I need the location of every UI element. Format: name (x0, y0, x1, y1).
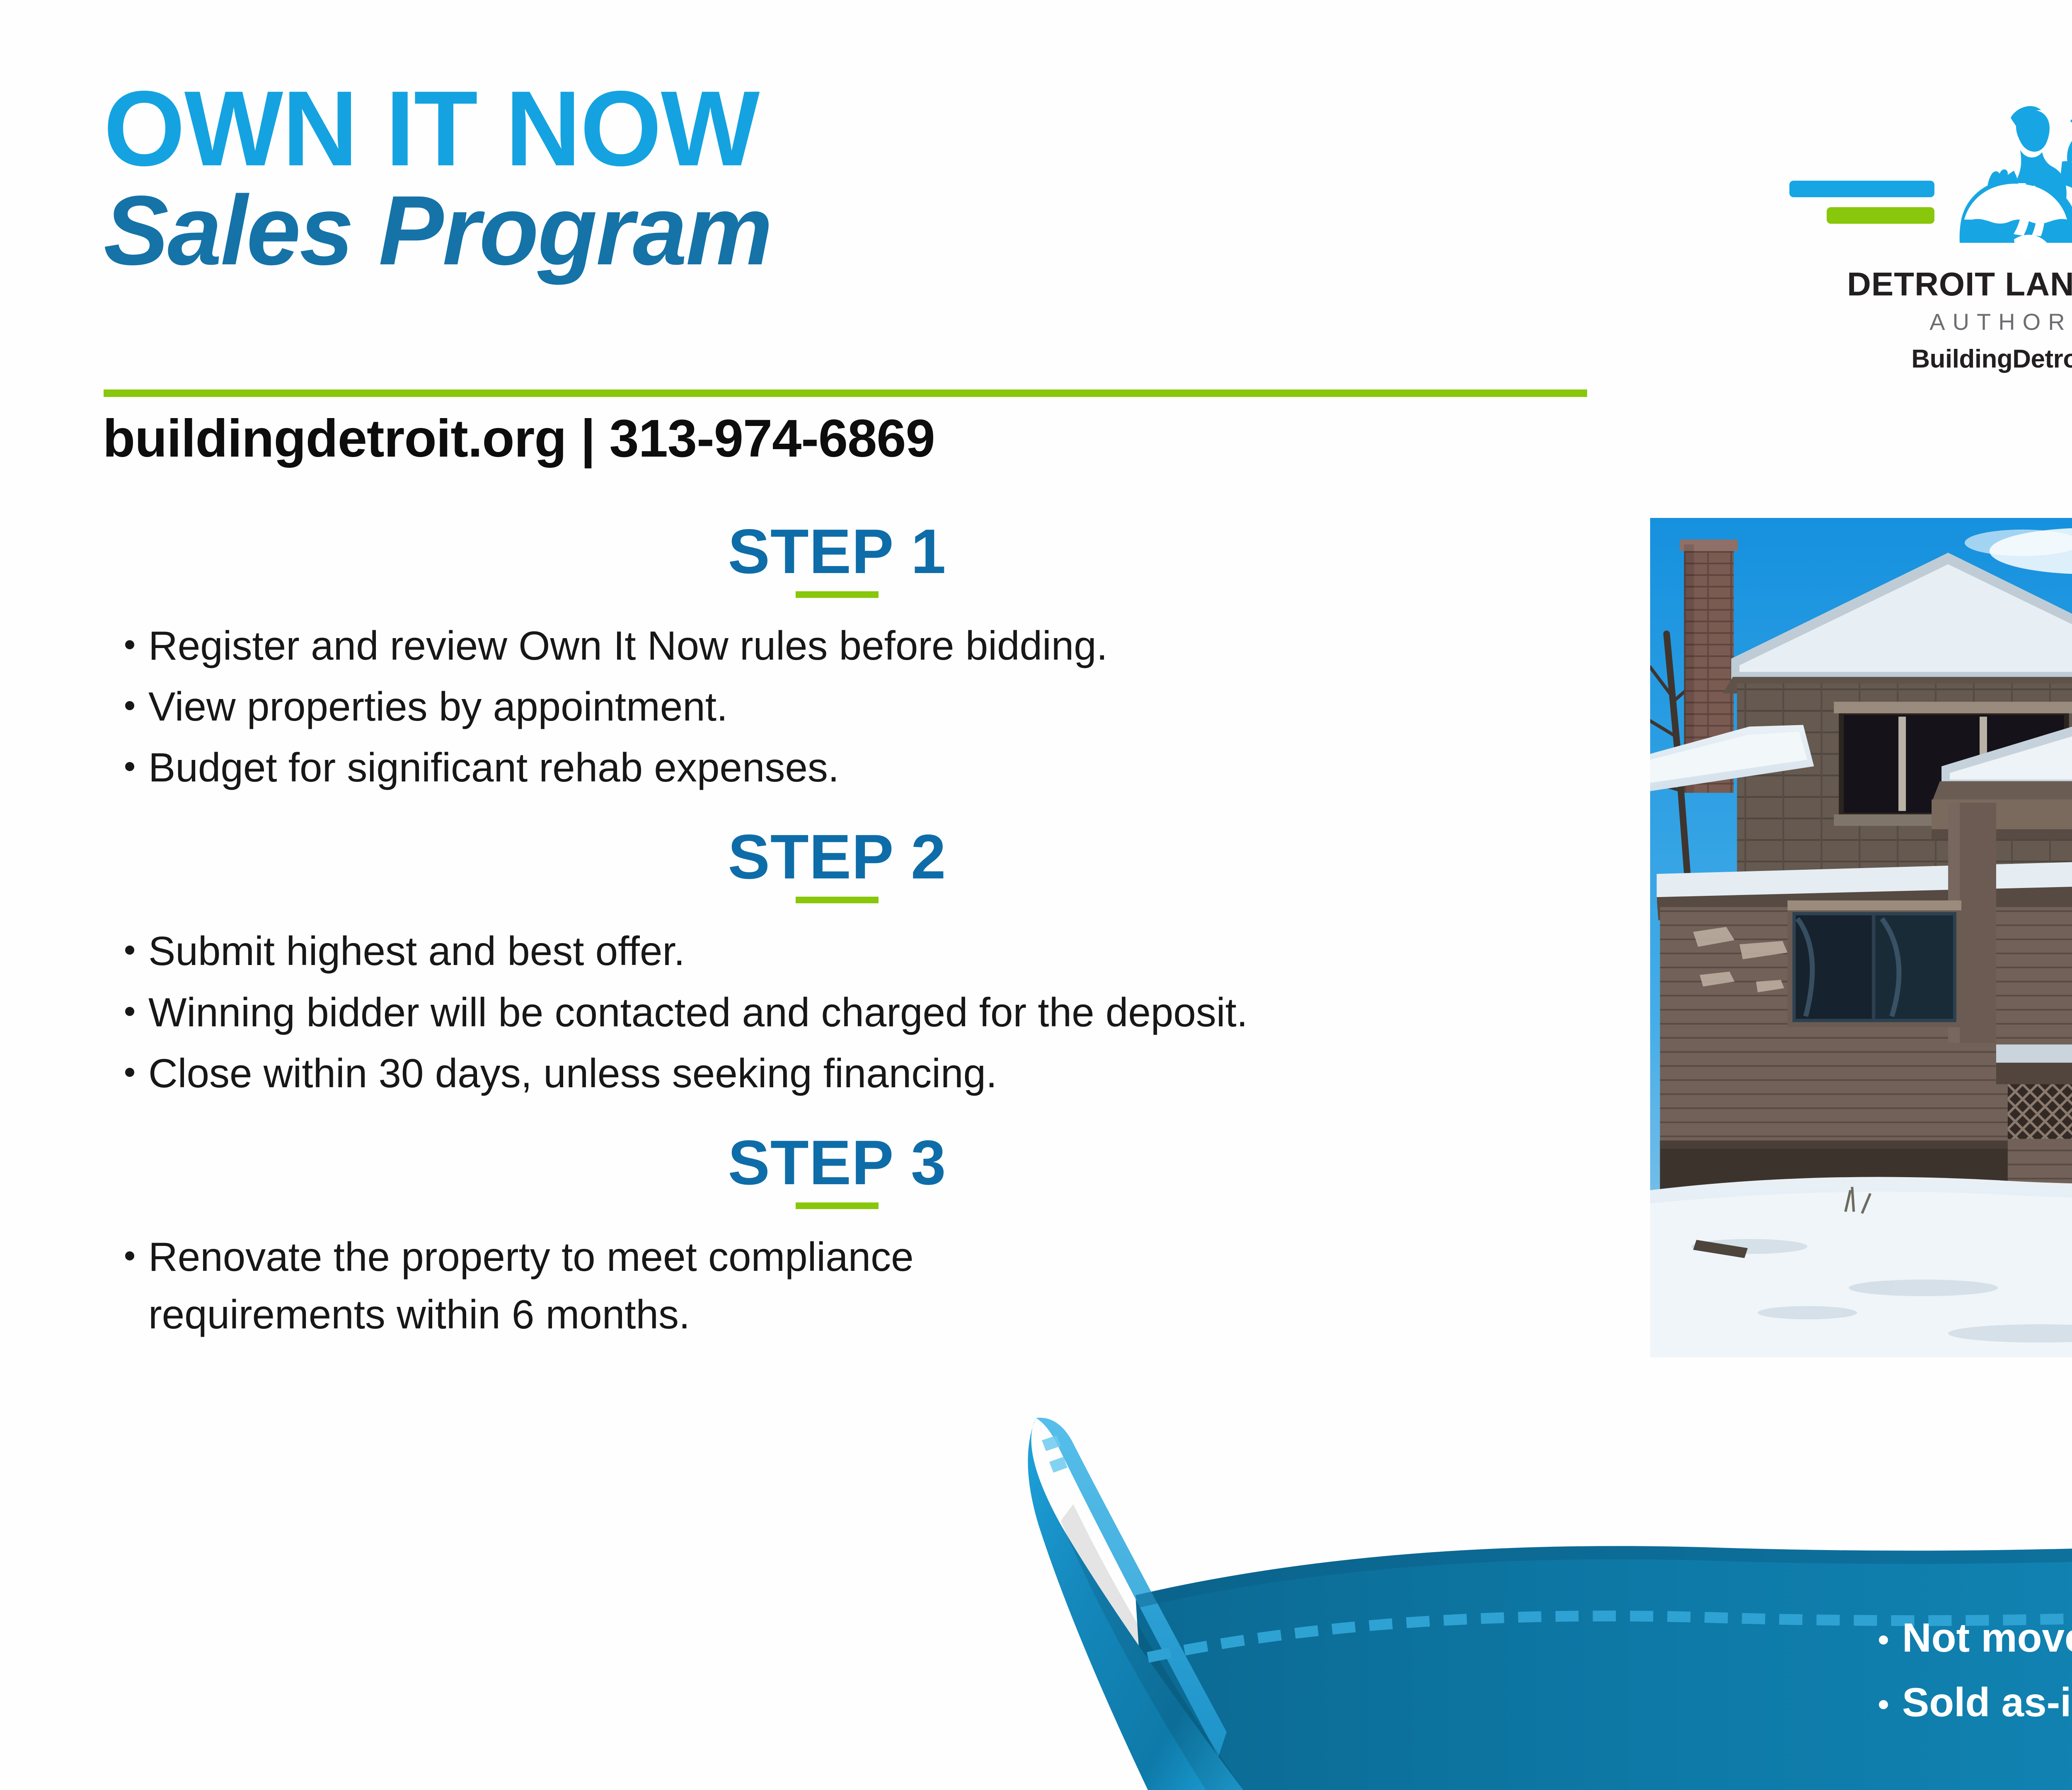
step-1: STEP 1 Register and review Own It Now ru… (99, 520, 1575, 796)
title-divider (104, 389, 1587, 397)
banner-note-item: Not move-in ready (1864, 1614, 2072, 1662)
flyer-page: OWN IT NOW Sales Program buildingdetroit… (0, 0, 2072, 1790)
step-3: STEP 3 Renovate the property to meet com… (99, 1131, 1575, 1343)
step-2-header: STEP 2 (278, 825, 1397, 903)
step-3-bullets: Renovate the property to meet compliance… (99, 1228, 1575, 1343)
list-item: Renovate the property to meet compliance… (99, 1228, 1143, 1343)
banner-notes: Not move-in ready Sold as-is, where-is (1864, 1614, 2072, 1743)
step-2-bullets: Submit highest and best offer. Winning b… (99, 922, 1575, 1102)
step-3-header: STEP 3 (278, 1131, 1397, 1209)
step-1-bullets: Register and review Own It Now rules bef… (99, 617, 1575, 796)
page-title-secondary: Sales Program (104, 181, 1581, 281)
step-2: STEP 2 Submit highest and best offer. Wi… (99, 825, 1575, 1102)
list-item: Budget for significant rehab expenses. (99, 739, 1516, 796)
step-2-underline (796, 897, 879, 903)
logo-url[interactable]: BuildingDetroit.org (1782, 344, 2072, 374)
step-1-underline (796, 591, 879, 598)
property-photo (1650, 518, 2072, 1357)
banner-note-item: Sold as-is, where-is (1864, 1679, 2072, 1727)
step-2-title: STEP 2 (278, 825, 1397, 888)
title-block: OWN IT NOW Sales Program (104, 79, 1595, 281)
list-item: Winning bidder will be contacted and cha… (99, 984, 1516, 1041)
list-item: Register and review Own It Now rules bef… (99, 617, 1516, 675)
logo-subtitle: AUTHORITY (1782, 308, 2072, 335)
spirit-of-detroit-icon (1782, 83, 2072, 261)
step-3-title: STEP 3 (278, 1131, 1397, 1194)
page-title-primary: OWN IT NOW (104, 79, 1566, 178)
step-3-underline (796, 1202, 879, 1209)
list-item: View properties by appointment. (99, 678, 1516, 735)
contact-line[interactable]: buildingdetroit.org | 313-974-6869 (103, 408, 935, 469)
step-1-header: STEP 1 (278, 520, 1397, 598)
list-item: Submit highest and best offer. (99, 922, 1516, 980)
steps-section: STEP 1 Register and review Own It Now ru… (99, 520, 1575, 1347)
list-item: Close within 30 days, unless seeking fin… (99, 1045, 1516, 1102)
logo-name: DETROIT LAND BANK (1782, 265, 2072, 303)
step-1-title: STEP 1 (278, 520, 1397, 583)
dlba-logo: DETROIT LAND BANK AUTHORITY BuildingDetr… (1782, 83, 2072, 374)
